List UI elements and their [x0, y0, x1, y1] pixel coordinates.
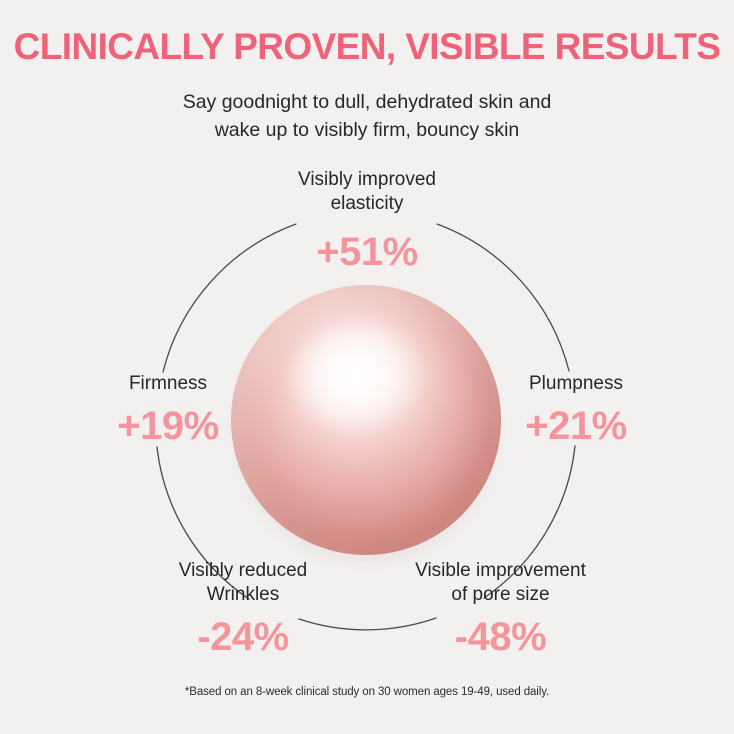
stat-label-firmness-line-1: Firmness: [129, 373, 207, 394]
stat-label-elasticity: Visibly improved elasticity: [247, 168, 487, 217]
stat-label-wrinkles-line-1: Visibly reduced: [179, 560, 308, 581]
stat-value-elasticity: +51%: [247, 232, 487, 272]
infographic-poster: CLINICALLY PROVEN, VISIBLE RESULTS Say g…: [0, 0, 734, 734]
stat-label-firmness: Firmness: [88, 372, 248, 396]
stat-label-elasticity-line-1: Visibly improved: [298, 169, 436, 190]
stat-label-elasticity-line-2: elasticity: [331, 193, 404, 214]
pearl-highlight: [290, 317, 430, 436]
stat-value-plumpness: +21%: [486, 406, 666, 446]
stat-label-pore-size-line-2: of pore size: [451, 584, 549, 605]
stat-value-wrinkles: -24%: [148, 617, 338, 657]
study-footnote: *Based on an 8-week clinical study on 30…: [0, 686, 734, 698]
stat-label-pore-size: Visible improvement of pore size: [393, 559, 608, 608]
pearl-sphere: [231, 285, 501, 555]
stat-label-wrinkles: Visibly reduced Wrinkles: [148, 559, 338, 608]
pearl-body: [231, 285, 501, 555]
stat-value-firmness: +19%: [88, 406, 248, 446]
stat-label-wrinkles-line-2: Wrinkles: [207, 584, 280, 605]
stat-label-pore-size-line-1: Visible improvement: [415, 560, 586, 581]
stat-label-plumpness: Plumpness: [486, 372, 666, 396]
stat-label-plumpness-line-1: Plumpness: [529, 373, 623, 394]
stat-value-pore-size: -48%: [393, 617, 608, 657]
